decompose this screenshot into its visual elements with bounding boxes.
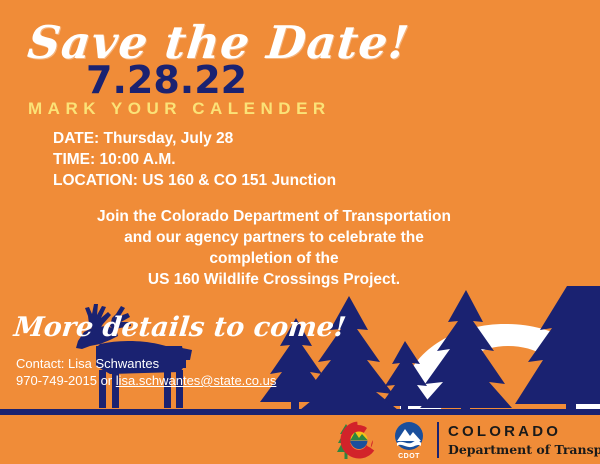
invitation-line-2: and our agency partners to celebrate the: [0, 227, 548, 248]
invitation-text: Join the Colorado Department of Transpor…: [0, 206, 548, 290]
invitation-line-4: US 160 Wildlife Crossings Project.: [0, 269, 548, 290]
contact-name: Contact: Lisa Schwantes: [16, 355, 276, 372]
detail-line-date: DATE: Thursday, July 28: [53, 128, 336, 149]
wordmark-department: Department of Transportation: [448, 444, 600, 457]
event-date-numeric: 7.28.22: [86, 60, 247, 100]
wildlife-scene-illustration: [0, 286, 600, 412]
detail-line-location: LOCATION: US 160 & CO 151 Junction: [53, 170, 336, 191]
cdot-badge-icon: CDOT: [388, 419, 430, 461]
contact-phone-email-line: 970-749-2015 or lisa.schwantes@state.co.…: [16, 372, 276, 389]
contact-email-link[interactable]: lisa.schwantes@state.co.us: [116, 373, 277, 388]
logo-divider: [437, 422, 439, 458]
cdot-logo-lockup: CDOT COLORADO Department of Transportati…: [336, 418, 600, 462]
invitation-line-3: completion of the: [0, 248, 548, 269]
detail-line-time: TIME: 10:00 A.M.: [53, 149, 336, 170]
event-details-list: DATE: Thursday, July 28 TIME: 10:00 A.M.…: [53, 128, 336, 191]
colorado-state-logo-icon: [336, 419, 388, 461]
cdot-wordmark: COLORADO Department of Transportation: [448, 424, 600, 457]
ground-line: [0, 409, 600, 415]
wordmark-colorado: COLORADO: [448, 424, 600, 439]
contact-conjunction: or: [97, 373, 116, 388]
more-details-headline: More details to come!: [12, 312, 347, 344]
save-the-date-poster: Save the Date! 7.28.22 MARK YOUR CALENDE…: [0, 0, 600, 464]
contact-block: Contact: Lisa Schwantes 970-749-2015 or …: [16, 355, 276, 389]
subheading-mark-your-calendar: MARK YOUR CALENDER: [28, 99, 331, 119]
logo-mountain-icon: [351, 432, 368, 450]
contact-phone: 970-749-2015: [16, 373, 97, 388]
invitation-line-1: Join the Colorado Department of Transpor…: [0, 206, 548, 227]
svg-text:CDOT: CDOT: [398, 453, 420, 460]
